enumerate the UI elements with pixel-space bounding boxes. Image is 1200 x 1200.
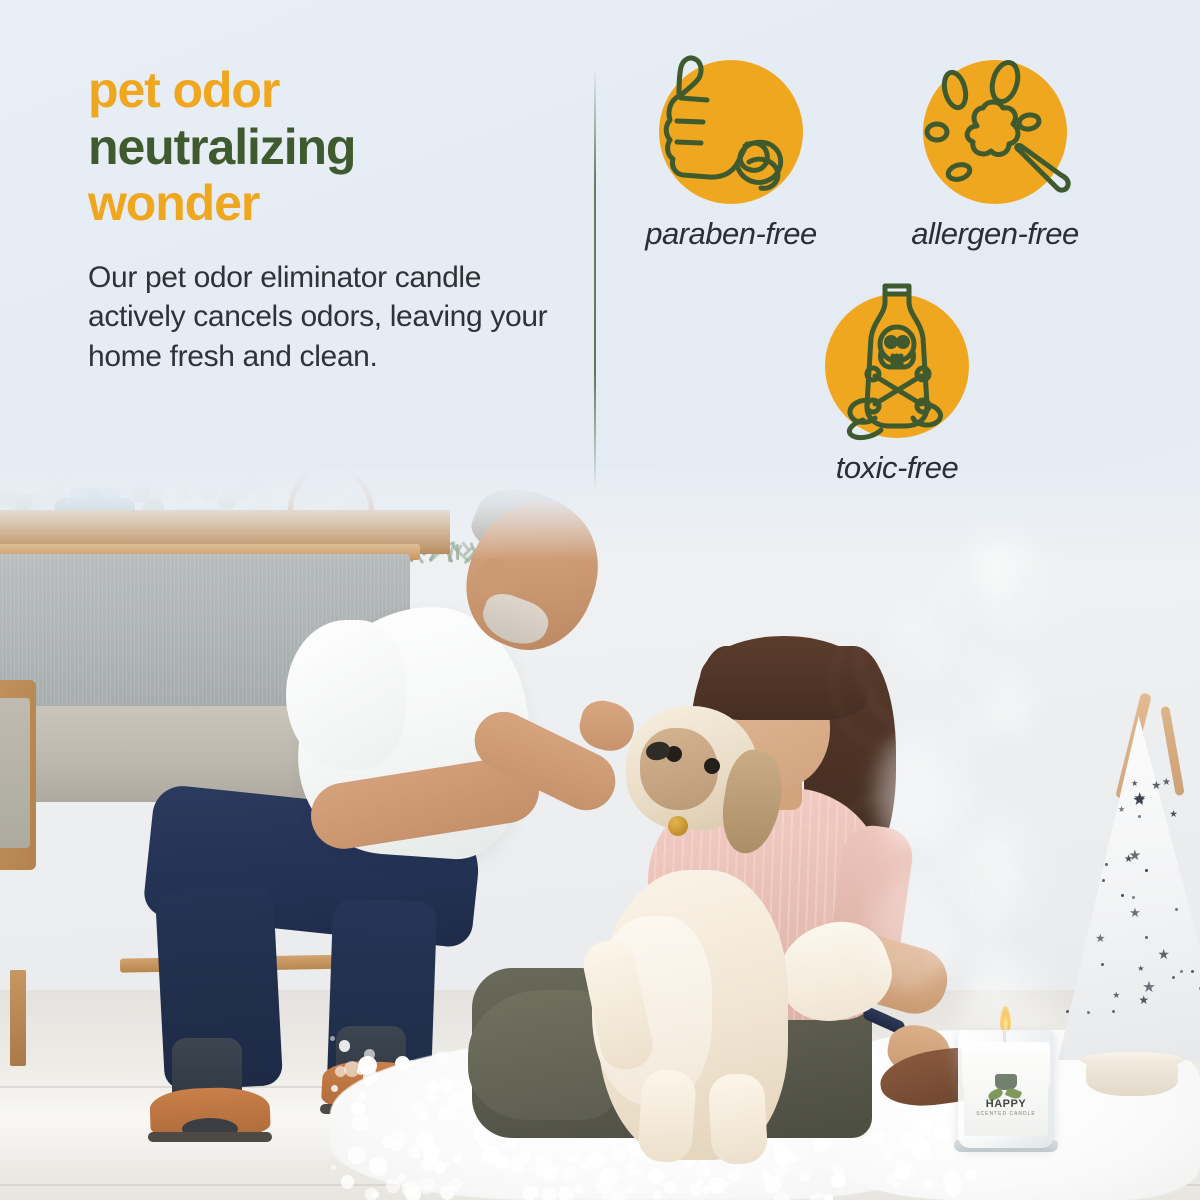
headline-line-2: neutralizing xyxy=(88,119,558,176)
copy-block: pet odor neutralizing wonder Our pet odo… xyxy=(88,62,558,377)
badge-disc xyxy=(825,294,969,438)
badge-disc xyxy=(659,60,803,204)
poison-bottle-skull-icon xyxy=(803,272,991,460)
badge-disc xyxy=(923,60,1067,204)
candle-label-subtitle: SCENTED CANDLE xyxy=(964,1111,1048,1117)
candle-label-name: HAPPY xyxy=(964,1098,1048,1110)
badge-paraben-free: paraben-free xyxy=(630,60,832,252)
badge-allergen-free: allergen-free xyxy=(894,60,1096,252)
body-copy: Our pet odor eliminator candle actively … xyxy=(88,258,558,378)
thumbs-up-icon xyxy=(637,38,825,226)
pet-food-bowl xyxy=(1086,1058,1178,1096)
page-title: pet odor neutralizing wonder xyxy=(88,62,558,232)
badge-toxic-free: toxic-free xyxy=(796,294,998,486)
vertical-divider xyxy=(594,68,596,492)
headline-line-3: wonder xyxy=(88,175,558,232)
marketing-banner: ★★★★★★★★★★★★★★★★★ HAPPY SCENTED CANDLE p… xyxy=(0,0,1200,1200)
dog-collar-bell xyxy=(668,816,688,836)
lifestyle-photo: ★★★★★★★★★★★★★★★★★ HAPPY SCENTED CANDLE xyxy=(0,470,1200,1200)
allergen-particles-icon xyxy=(901,38,1089,226)
headline-line-1: pet odor xyxy=(88,62,558,119)
benefit-badges: paraben-free xyxy=(630,60,1170,486)
